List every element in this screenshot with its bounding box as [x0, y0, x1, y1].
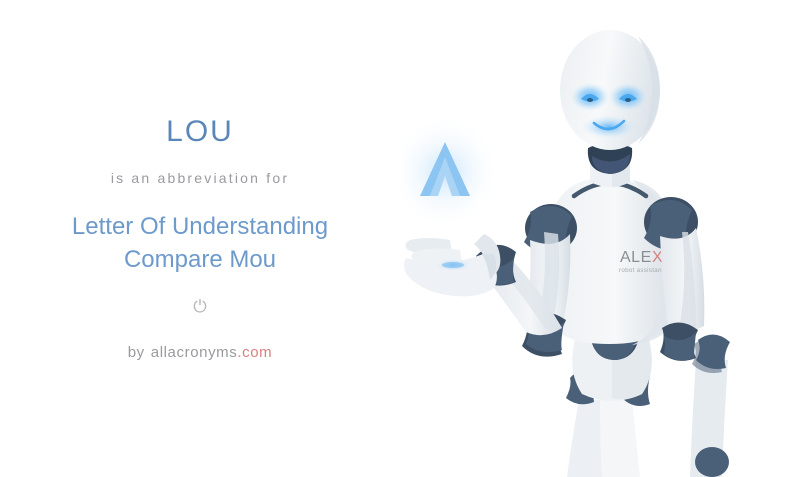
power-icon: ⏻ [193, 298, 206, 315]
attribution: byallacronyms.com [128, 345, 273, 360]
robot-assistant-illustration: ALE X robot assistant [400, 0, 801, 477]
badge-name: ALE [620, 249, 652, 266]
acronym-definition-card: LOU is an abbreviation for Letter Of Und… [0, 0, 801, 477]
robot-chest-badge: ALE X robot assistant [619, 249, 664, 274]
robot-head [560, 30, 660, 150]
robot-mouth [581, 115, 637, 139]
attribution-site-name[interactable]: allacronyms [151, 344, 238, 361]
text-panel: LOU is an abbreviation for Letter Of Und… [0, 0, 400, 477]
connector-label: is an abbreviation for [111, 171, 289, 185]
attribution-site-tld[interactable]: .com [237, 344, 272, 361]
acronym-title: LOU [166, 117, 234, 147]
attribution-prefix: by [128, 344, 145, 361]
badge-subtitle: robot assistant [619, 267, 664, 274]
acronym-expansion: Letter Of Understanding Compare Mou [20, 211, 380, 276]
robot-open-palm [404, 234, 500, 296]
chevron-up-glow-icon [400, 118, 497, 226]
